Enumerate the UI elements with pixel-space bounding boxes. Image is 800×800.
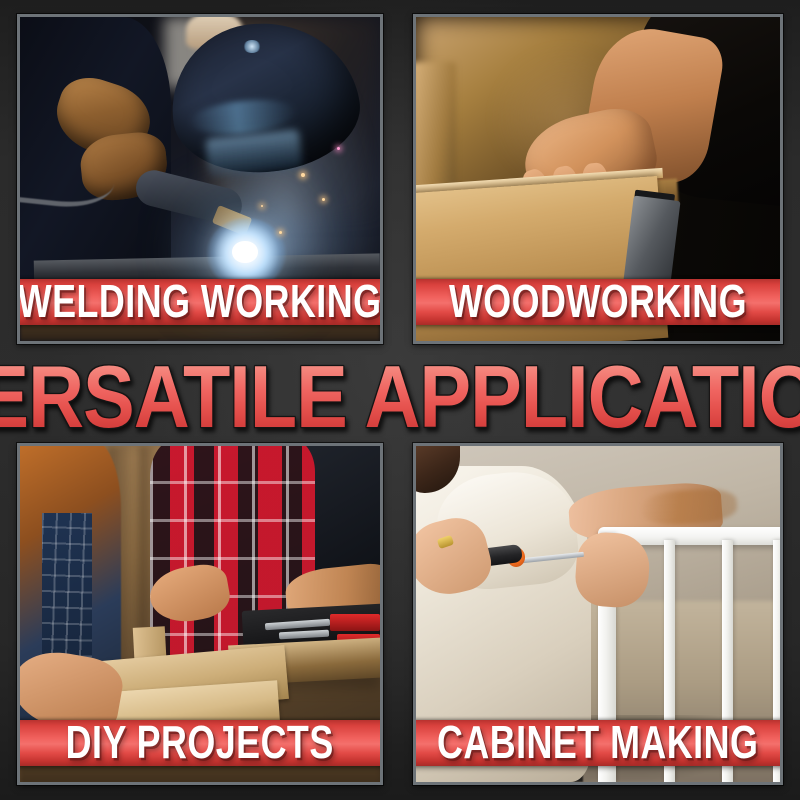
panel-woodworking[interactable]: WOODWORKING xyxy=(413,14,783,344)
poster-canvas: WELDING WORKING WOODWORKING VERSATILE AP xyxy=(0,0,800,800)
caption-banner-cabinet: CABINET MAKING xyxy=(413,720,783,766)
helmet-glint-layer xyxy=(243,40,261,53)
panel-cabinet-making[interactable]: CABINET MAKING xyxy=(413,443,783,785)
panel-caption: CABINET MAKING xyxy=(437,720,758,766)
panel-diy-projects[interactable]: DIY PROJECTS xyxy=(17,443,383,785)
main-title-block: VERSATILE APPLICATION xyxy=(0,354,800,442)
caption-banner-welding: WELDING WORKING xyxy=(17,279,383,325)
panel-caption: WELDING WORKING xyxy=(18,279,382,325)
panel-caption: WOODWORKING xyxy=(449,279,747,325)
caption-banner-diy: DIY PROJECTS xyxy=(17,720,383,766)
caption-banner-woodworking: WOODWORKING xyxy=(413,279,783,325)
arc-core-layer xyxy=(232,241,257,264)
spark-dot xyxy=(301,173,305,177)
red-tool-layer xyxy=(330,614,380,631)
poster-title: VERSATILE APPLICATION xyxy=(0,354,800,442)
panel-welding[interactable]: WELDING WORKING xyxy=(17,14,383,344)
panel-caption: DIY PROJECTS xyxy=(66,720,334,766)
spark-dot xyxy=(337,147,340,150)
